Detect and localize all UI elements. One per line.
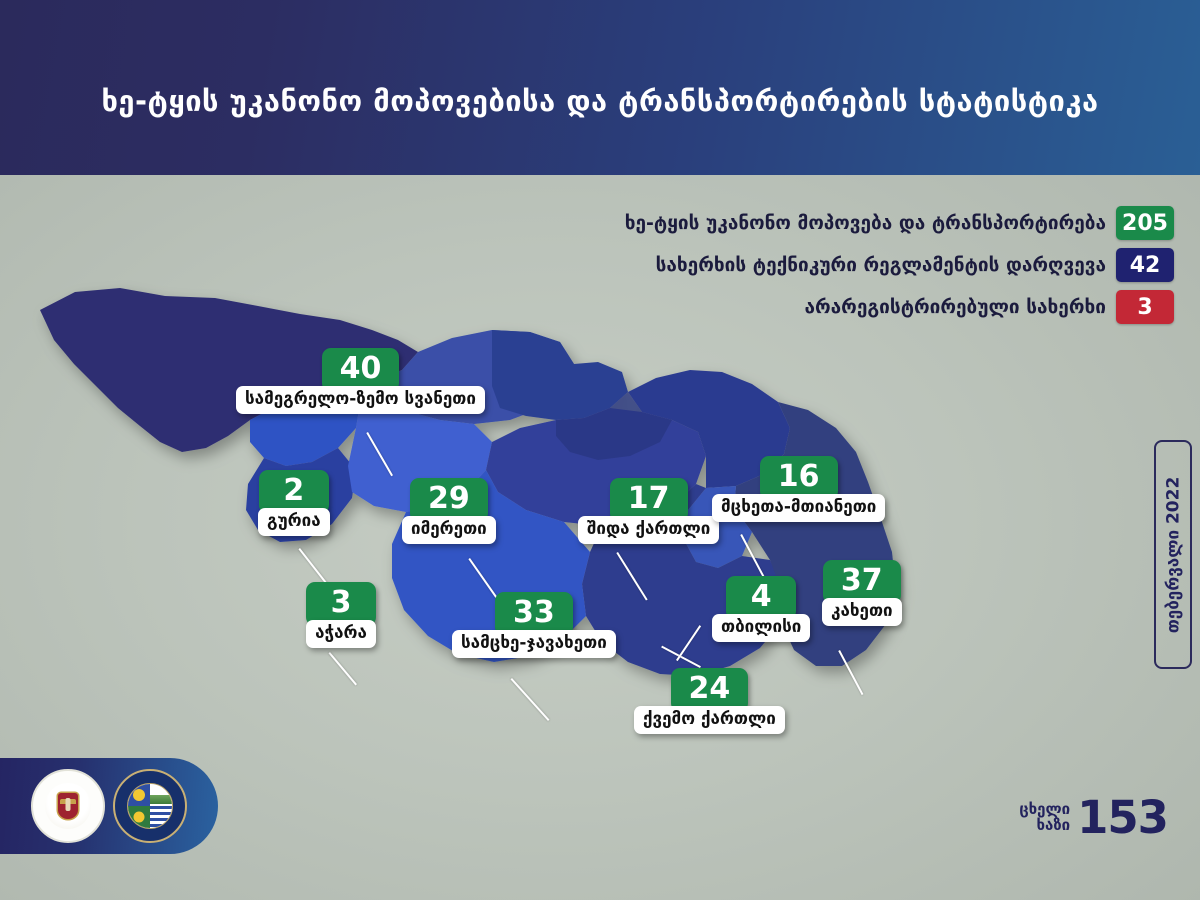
legend-badge: 42 (1116, 248, 1174, 282)
date-tab: თებერვალი 2022 (1154, 440, 1192, 669)
callout-label: თბილისი (712, 614, 810, 642)
logo-panel (0, 758, 218, 854)
callout-label: ქვემო ქართლი (634, 706, 785, 734)
legend-badge: 205 (1116, 206, 1174, 240)
callout-label: შიდა ქართლი (578, 516, 719, 544)
header-banner: ხე-ტყის უკანონო მოპოვებისა და ტრანსპორტი… (0, 0, 1200, 175)
callout-label: მცხეთა-მთიანეთი (712, 494, 885, 522)
callout-label: იმერეთი (402, 516, 496, 544)
coat-of-arms-shield-icon (58, 793, 78, 819)
callout-adjara: 3 აჭარა (306, 582, 376, 648)
date-tab-label: თებერვალი 2022 (1163, 476, 1183, 633)
callout-samtskhe-javakheti: 33 სამცხე-ჯავახეთი (452, 592, 616, 658)
map-svg (0, 180, 1090, 800)
emblem-quadrant-forest (128, 806, 150, 828)
callout-kakheti: 37 კახეთი (822, 560, 902, 626)
page-title: ხე-ტყის უკანონო მოპოვებისა და ტრანსპორტი… (101, 58, 1098, 118)
hotline: ცხელი ხაზი 153 (1019, 791, 1168, 844)
callout-label: სამცხე-ჯავახეთი (452, 630, 616, 658)
region-racha-lechkhumi (492, 330, 628, 420)
callout-guria: 2 გურია (258, 470, 330, 536)
callout-label: გურია (258, 508, 330, 536)
callout-label: კახეთი (822, 598, 902, 626)
callout-label: სამეგრელო-ზემო სვანეთი (236, 386, 485, 414)
callout-imereti: 29 იმერეთი (402, 478, 496, 544)
callout-mtskheta-mtianeti: 16 მცხეთა-მთიანეთი (712, 456, 885, 522)
emblem-quadrant-water (150, 806, 172, 828)
callout-tbilisi: 4 თბილისი (712, 576, 810, 642)
georgia-map (0, 180, 1090, 800)
environmental-supervision-emblem-icon (113, 769, 187, 843)
crown-icon (60, 799, 76, 804)
callout-samegrelo-zemo-svaneti: 40 სამეგრელო-ზემო სვანეთი (236, 348, 485, 414)
infographic-root: ხე-ტყის უკანონო მოპოვებისა და ტრანსპორტი… (0, 0, 1200, 900)
ministry-emblem-inner (45, 783, 91, 829)
hotline-line2: ხაზი (1019, 818, 1070, 833)
callout-label: აჭარა (306, 620, 376, 648)
hotline-words: ცხელი ხაზი (1019, 802, 1070, 833)
hotline-number: 153 (1077, 791, 1168, 844)
environmental-emblem-inner (127, 783, 173, 829)
emblem-quadrant-sun (128, 784, 150, 806)
ministry-emblem-icon (31, 769, 105, 843)
legend-badge: 3 (1116, 290, 1174, 324)
emblem-quadrant-mountains (150, 784, 172, 806)
callout-shida-kartli: 17 შიდა ქართლი (578, 478, 719, 544)
callout-kvemo-kartli: 24 ქვემო ქართლი (634, 668, 785, 734)
